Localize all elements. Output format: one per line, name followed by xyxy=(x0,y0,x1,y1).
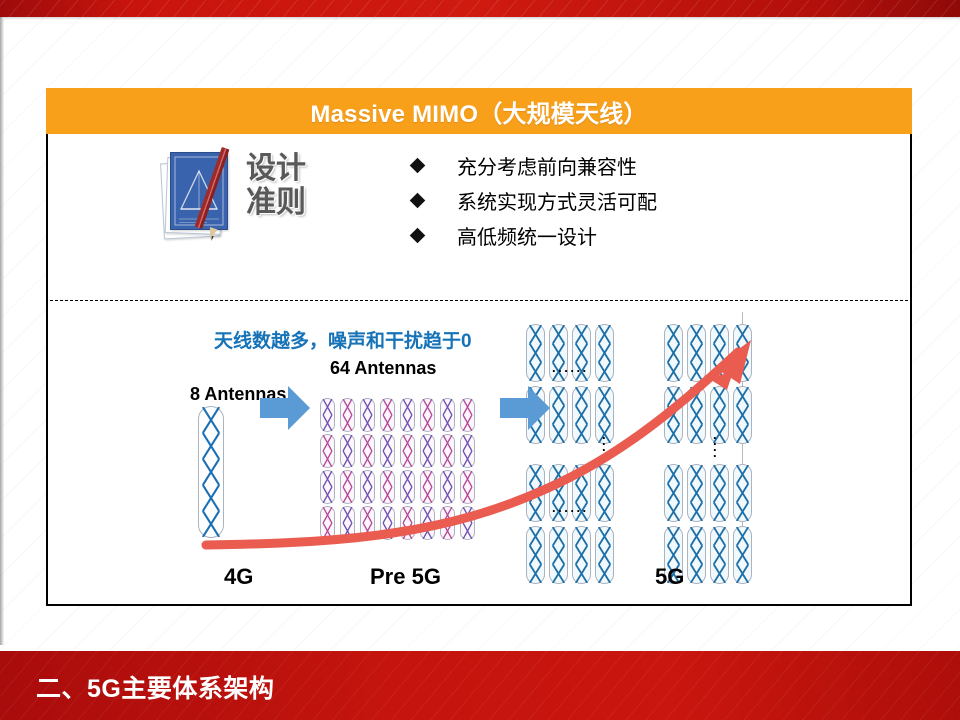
content-card: Massive MIMO（大规模天线） xyxy=(46,88,912,606)
antenna-element xyxy=(440,434,455,468)
diamond-bullet-icon xyxy=(410,158,426,174)
antenna-element xyxy=(460,398,475,432)
top-band-shadow xyxy=(0,17,960,20)
antenna-element xyxy=(664,464,683,522)
antenna-element xyxy=(340,506,355,540)
ellipsis-horizontal-top: ...... xyxy=(552,360,589,375)
antenna-element xyxy=(687,464,706,522)
antenna-element xyxy=(340,470,355,504)
antenna-element xyxy=(380,506,395,540)
design-criteria-section: 设计 准则 充分考虑前向兼容性 系统实现方式灵活可配 高低频统一设计 xyxy=(48,134,910,300)
pencil-lead xyxy=(210,236,214,241)
diamond-bullet-icon xyxy=(410,193,426,209)
bullet-text: 高低频统一设计 xyxy=(457,221,597,250)
antenna-element xyxy=(572,386,591,444)
antenna-element xyxy=(420,506,435,540)
antenna-element xyxy=(526,464,545,522)
footer-band: 二、5G主要体系架构 xyxy=(0,651,960,720)
antenna-element xyxy=(340,434,355,468)
antenna-element xyxy=(400,506,415,540)
antenna-element xyxy=(400,398,415,432)
list-item: 充分考虑前向兼容性 xyxy=(412,148,657,183)
antenna-element xyxy=(664,324,683,382)
bullet-text: 充分考虑前向兼容性 xyxy=(457,151,637,180)
arrow-head xyxy=(288,386,310,430)
antenna-element xyxy=(420,398,435,432)
antenna-element xyxy=(400,470,415,504)
arrow-head xyxy=(528,386,550,430)
list-item: 系统实现方式灵活可配 xyxy=(412,183,657,218)
antenna-element xyxy=(595,464,614,522)
diamond-bullet-icon xyxy=(410,228,426,244)
antenna-element xyxy=(526,526,545,584)
card-title-bar: Massive MIMO（大规模天线） xyxy=(46,88,912,134)
blueprint-pencil-icon xyxy=(160,150,240,242)
antenna-element xyxy=(710,464,729,522)
antenna-element xyxy=(320,506,335,540)
card-body: 设计 准则 充分考虑前向兼容性 系统实现方式灵活可配 高低频统一设计 xyxy=(46,134,912,606)
ellipsis-vertical-right: .... xyxy=(713,432,717,456)
ellipsis-vertical-left: .... xyxy=(602,432,606,456)
criteria-bullet-list: 充分考虑前向兼容性 系统实现方式灵活可配 高低频统一设计 xyxy=(412,148,657,253)
card-title-text: Massive MIMO（大规模天线） xyxy=(310,94,647,129)
antenna-element xyxy=(360,506,375,540)
antenna-element xyxy=(572,526,591,584)
antenna-element xyxy=(733,464,752,522)
antenna-element xyxy=(687,324,706,382)
antenna-element xyxy=(360,434,375,468)
antenna-element xyxy=(460,506,475,540)
antenna-element xyxy=(733,324,752,382)
antenna-element xyxy=(420,470,435,504)
antenna-element xyxy=(440,398,455,432)
antenna-element xyxy=(360,470,375,504)
antenna-element xyxy=(320,470,335,504)
antenna-element xyxy=(360,398,375,432)
antenna-element xyxy=(664,386,683,444)
footer-section-title: 二、5G主要体系架构 xyxy=(36,669,274,705)
antenna-element xyxy=(595,324,614,382)
left-edge-strip xyxy=(0,17,4,645)
antenna-element xyxy=(460,434,475,468)
slide-root: Massive MIMO（大规模天线） xyxy=(0,0,960,720)
antenna-element xyxy=(440,470,455,504)
diagram-headline: 天线数越多，噪声和干扰趋于0 xyxy=(214,326,472,353)
list-item: 高低频统一设计 xyxy=(412,218,657,253)
antenna-element xyxy=(340,398,355,432)
antenna-element xyxy=(380,470,395,504)
antenna-element xyxy=(549,526,568,584)
red-growth-arrow-icon xyxy=(48,302,910,602)
arrow-shaft xyxy=(500,398,530,418)
antenna-element xyxy=(733,526,752,584)
design-criteria-label-line2: 准则 xyxy=(246,186,332,220)
ellipsis-horizontal-bottom: ...... xyxy=(552,500,589,515)
antenna-element xyxy=(710,324,729,382)
antenna-element xyxy=(380,434,395,468)
section-divider xyxy=(50,300,908,301)
antenna-element xyxy=(400,434,415,468)
design-criteria-label-line1: 设计 xyxy=(246,152,332,186)
antenna-element xyxy=(549,386,568,444)
antenna-element xyxy=(420,434,435,468)
massive-mimo-diagram: 天线数越多，噪声和干扰趋于0 8 Antennas 64 Antennas xyxy=(48,302,910,602)
top-band-texture xyxy=(0,0,960,17)
antenna-element xyxy=(526,324,545,382)
bullet-text: 系统实现方式灵活可配 xyxy=(457,186,657,215)
antenna-element xyxy=(460,470,475,504)
antenna-element xyxy=(198,406,224,538)
antenna-element xyxy=(320,398,335,432)
antenna-element xyxy=(687,526,706,584)
antenna-element xyxy=(733,386,752,444)
tier-label-5g: 5G xyxy=(655,564,684,590)
top-red-band xyxy=(0,0,960,17)
design-criteria-label: 设计 准则 xyxy=(246,152,332,219)
tier-label-pre5g: Pre 5G xyxy=(370,564,441,590)
arrow-shaft xyxy=(260,398,290,418)
antenna-element xyxy=(380,398,395,432)
antenna-element xyxy=(440,506,455,540)
antenna-element xyxy=(595,526,614,584)
antenna-element xyxy=(687,386,706,444)
antenna-element xyxy=(320,434,335,468)
tier-label-4g: 4G xyxy=(224,564,253,590)
antenna-element xyxy=(710,526,729,584)
label-64-antennas: 64 Antennas xyxy=(330,358,436,379)
